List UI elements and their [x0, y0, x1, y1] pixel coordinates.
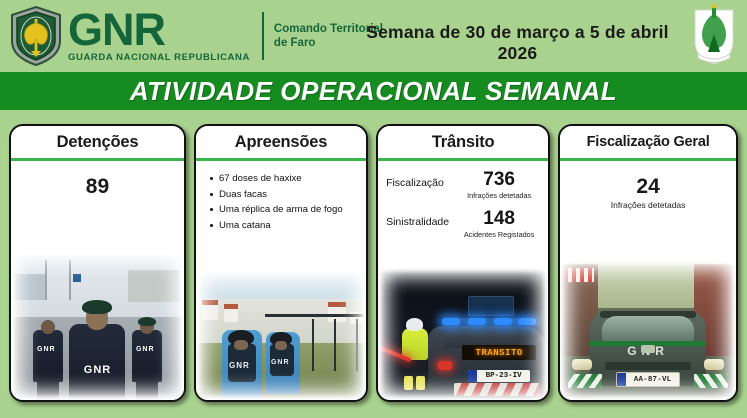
header-divider — [262, 12, 264, 60]
card-body: 24 Infrações detetadas GNR — [560, 161, 736, 400]
card-body: 89 GNR GNR — [11, 161, 184, 400]
row-label: Sinistralidade — [386, 208, 458, 228]
card-title: Detenções — [57, 133, 139, 152]
cards-row: Detenções 89 GNR — [0, 124, 747, 402]
faro-coat-of-arms-icon — [689, 4, 739, 68]
card-transito: Trânsito Fiscalização 736 Infrações dete… — [376, 124, 550, 402]
row-caption: Acidentes Registados — [458, 230, 540, 239]
card-detencoes: Detenções 89 GNR — [9, 124, 186, 402]
gnr-logo-block: GNR GUARDA NACIONAL REPUBLICANA — [0, 5, 250, 67]
night-traffic-stop-photo: TRANSITO BP-23-IV — [378, 268, 548, 400]
list-item: 67 doses de haxixe — [210, 171, 360, 187]
card-header: Apreensões — [196, 126, 366, 161]
main-banner: ATIVIDADE OPERACIONAL SEMANAL — [0, 72, 747, 110]
card-title: Apreensões — [235, 133, 327, 152]
transito-row-fiscalizacao: Fiscalização 736 Infrações detetadas — [378, 161, 548, 200]
list-item: Duas facas — [210, 187, 360, 203]
transito-row-sinistralidade: Sinistralidade 148 Acidentes Registados — [378, 200, 548, 239]
card-body: 67 doses de haxixe Duas facas Uma réplic… — [196, 161, 366, 400]
two-gnr-officers-at-viewpoint-photo: GNR GNR — [196, 270, 366, 400]
card-header: Fiscalização Geral — [560, 126, 736, 161]
led-sign-text: TRANSITO — [476, 348, 523, 358]
vehicle-plate: AA-87-VL — [626, 376, 679, 384]
row-caption: Infrações detetadas — [458, 191, 540, 200]
card-title: Trânsito — [432, 133, 495, 152]
apreensoes-list: 67 doses de haxixe Duas facas Uma réplic… — [196, 161, 366, 233]
card-title: Fiscalização Geral — [587, 134, 710, 150]
banner-title: ATIVIDADE OPERACIONAL SEMANAL — [130, 76, 617, 107]
page-header: GNR GUARDA NACIONAL REPUBLICANA Comando … — [0, 0, 747, 72]
card-header: Detenções — [11, 126, 184, 161]
row-value: 736 — [458, 169, 540, 190]
gnr-patrol-car-photo: GNR AA-87-VL — [560, 260, 736, 400]
gnr-wordmark: GNR GUARDA NACIONAL REPUBLICANA — [68, 9, 250, 63]
row-value: 148 — [458, 208, 540, 229]
detencoes-value: 89 — [11, 161, 184, 199]
three-gnr-officers-on-street-photo: GNR GNR GNR — [11, 252, 184, 400]
fiscalizacao-caption: Infrações detetadas — [560, 200, 736, 210]
gnr-abbrev: GNR — [68, 9, 250, 51]
week-label: Semana de 30 de março a 5 de abril 2026 — [345, 22, 690, 64]
row-label: Fiscalização — [386, 169, 458, 189]
gnr-full-name: GUARDA NACIONAL REPUBLICANA — [68, 52, 250, 63]
list-item: Uma réplica de arma de fogo — [210, 202, 360, 218]
card-header: Trânsito — [378, 126, 548, 161]
fiscalizacao-value: 24 — [560, 161, 736, 199]
card-body: Fiscalização 736 Infrações detetadas Sin… — [378, 161, 548, 400]
card-apreensoes: Apreensões 67 doses de haxixe Duas facas… — [194, 124, 368, 402]
list-item: Uma catana — [210, 218, 360, 234]
gnr-crest-icon — [8, 5, 64, 67]
vehicle-plate: BP-23-IV — [477, 372, 530, 380]
card-fiscalizacao-geral: Fiscalização Geral 24 Infrações detetada… — [558, 124, 738, 402]
